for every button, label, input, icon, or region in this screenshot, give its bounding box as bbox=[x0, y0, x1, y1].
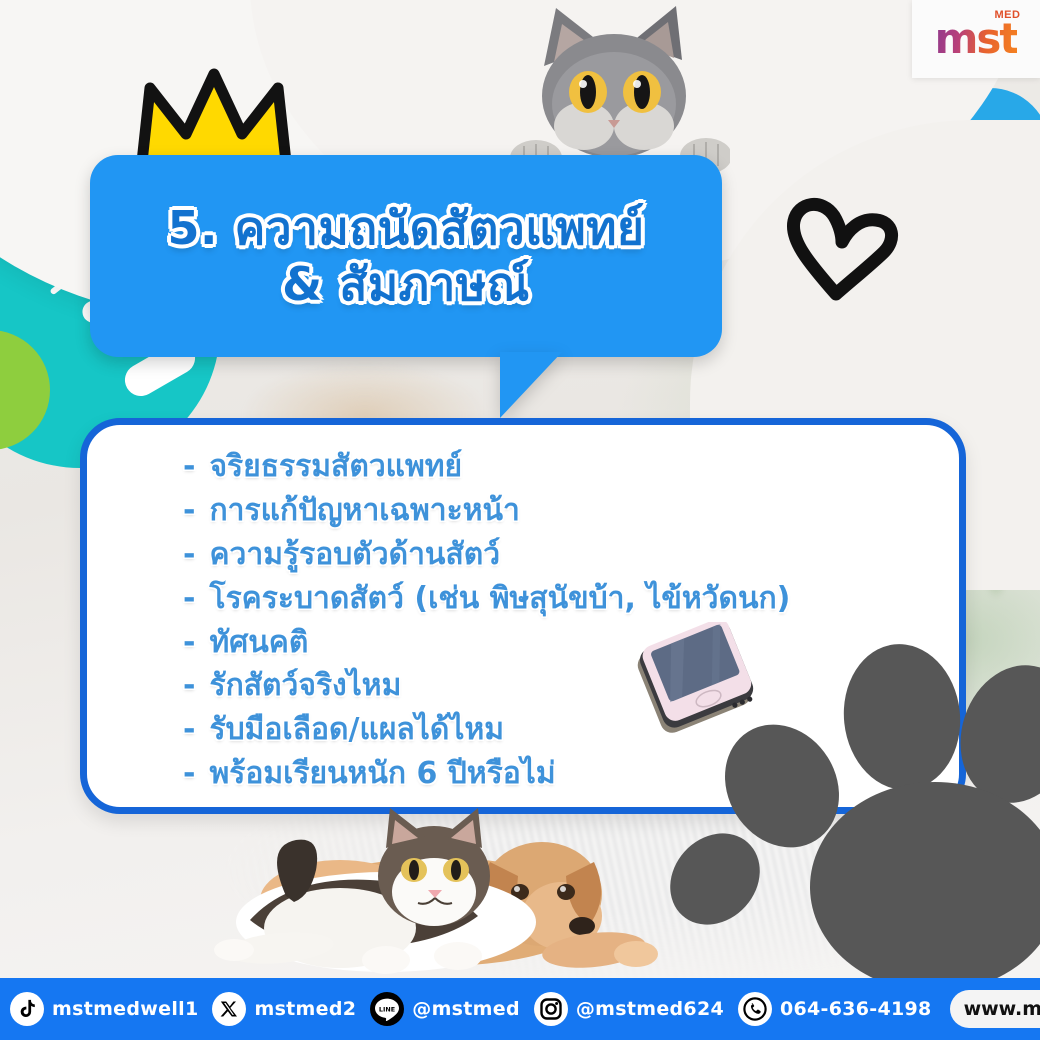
bullet-marker: - bbox=[183, 447, 195, 487]
list-item-label: รับมือเลือด/แผลได้ไหม bbox=[209, 710, 504, 750]
title-line-1: 5. ความถนัดสัตวแพทย์ bbox=[168, 200, 645, 256]
speech-bubble-tail bbox=[500, 352, 562, 418]
footer-website-pill[interactable]: www.mstmed624.com bbox=[950, 990, 1040, 1028]
paw-toe bbox=[837, 638, 968, 795]
cat-and-dog-photo bbox=[190, 800, 680, 978]
bullet-marker: - bbox=[183, 710, 195, 750]
footer-item-instagram[interactable]: @mstmed624 bbox=[534, 992, 724, 1026]
list-item-label: จริยธรรมสัตวแพทย์ bbox=[209, 447, 462, 487]
footer-handle-x: mstmed2 bbox=[254, 998, 356, 1020]
footer-handle-line: @mstmed bbox=[412, 998, 520, 1020]
list-item-label: รักสัตว์จริงไหม bbox=[209, 666, 401, 706]
page-title: 5. ความถนัดสัตวแพทย์ & สัมภาษณ์ bbox=[90, 155, 722, 357]
poster-canvas: 5. ความถนัดสัตวแพทย์ & สัมภาษณ์ - จริยธร… bbox=[0, 0, 1040, 1040]
heart-doodle-icon bbox=[778, 190, 908, 305]
logo-superscript: MED bbox=[994, 9, 1020, 21]
phone-icon[interactable] bbox=[738, 992, 772, 1026]
bullet-marker: - bbox=[183, 535, 195, 575]
bullet-marker: - bbox=[183, 491, 195, 531]
logo-text: mst bbox=[935, 18, 1018, 60]
headline-speech-bubble: 5. ความถนัดสัตวแพทย์ & สัมภาษณ์ bbox=[90, 155, 722, 357]
svg-text:LINE: LINE bbox=[379, 1005, 395, 1013]
list-item-label: ความรู้รอบตัวด้านสัตว์ bbox=[209, 535, 500, 575]
footer-handle-instagram: @mstmed624 bbox=[576, 998, 724, 1020]
list-item: - ความรู้รอบตัวด้านสัตว์ bbox=[183, 535, 935, 575]
footer-item-x[interactable]: mstmed2 bbox=[212, 992, 356, 1026]
bullet-marker: - bbox=[183, 623, 195, 663]
list-item-label: ทัศนคติ bbox=[209, 623, 308, 663]
footer-handle-tiktok: mstmedwell1 bbox=[52, 998, 198, 1020]
footer-website-url: www.mstmed624.com bbox=[964, 998, 1040, 1020]
footer-phone-number: 064-636-4198 bbox=[780, 998, 932, 1020]
footer-item-line[interactable]: LINE @mstmed bbox=[370, 992, 520, 1026]
line-icon[interactable]: LINE bbox=[370, 992, 404, 1026]
bullet-marker: - bbox=[183, 754, 195, 794]
list-item: - โรคระบาดสัตว์ (เช่น พิษสุนัขบ้า, ไข้หว… bbox=[183, 579, 935, 619]
instagram-icon[interactable] bbox=[534, 992, 568, 1026]
bullet-marker: - bbox=[183, 579, 195, 619]
tiktok-icon[interactable] bbox=[10, 992, 44, 1026]
x-twitter-icon[interactable] bbox=[212, 992, 246, 1026]
paw-print-icon bbox=[718, 630, 1040, 960]
list-item-label: โรคระบาดสัตว์ (เช่น พิษสุนัขบ้า, ไข้หวัด… bbox=[209, 579, 790, 619]
bullet-marker: - bbox=[183, 666, 195, 706]
list-item-label: พร้อมเรียนหนัก 6 ปีหรือไม่ bbox=[209, 754, 555, 794]
list-item: - การแก้ปัญหาเฉพาะหน้า bbox=[183, 491, 935, 531]
footer-item-tiktok[interactable]: mstmedwell1 bbox=[10, 992, 198, 1026]
title-line-2: & สัมภาษณ์ bbox=[282, 256, 530, 312]
brand-logo: mst MED bbox=[912, 0, 1040, 78]
footer-bar: mstmedwell1 mstmed2 LINE @mstmed bbox=[0, 978, 1040, 1040]
peeking-cat-photo bbox=[510, 0, 730, 175]
list-item: - จริยธรรมสัตวแพทย์ bbox=[183, 447, 935, 487]
list-item-label: การแก้ปัญหาเฉพาะหน้า bbox=[209, 491, 519, 531]
footer-item-phone[interactable]: 064-636-4198 bbox=[738, 992, 932, 1026]
